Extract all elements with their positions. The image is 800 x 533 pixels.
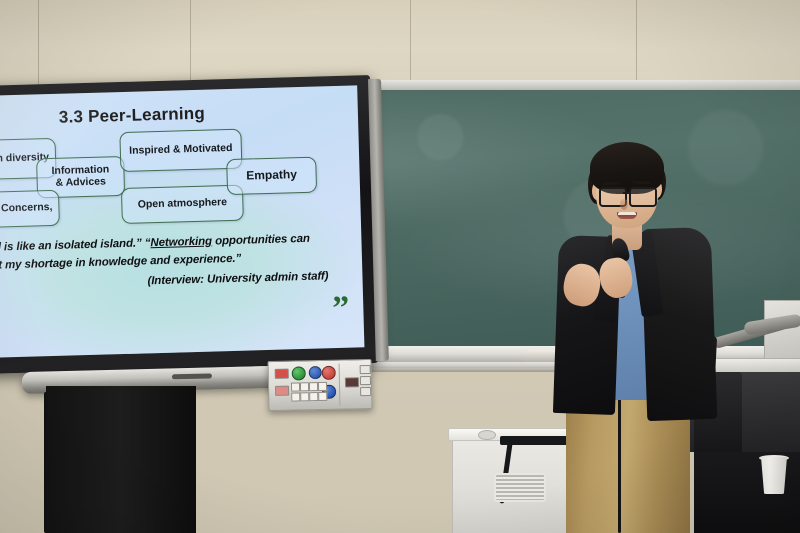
av-cabinet-vent	[494, 473, 546, 502]
pink-square-button[interactable]	[275, 386, 289, 396]
display-stand-column	[46, 386, 196, 533]
mini-switch[interactable]	[309, 382, 318, 391]
eyeglasses-lens-right	[629, 187, 657, 207]
mini-switch[interactable]	[291, 392, 300, 401]
quote-line-2: ent my shortage in knowledge and experie…	[0, 253, 241, 272]
red-round-button[interactable]	[322, 366, 336, 380]
control-panel-divider	[339, 364, 341, 406]
blue-round-button-upper[interactable]	[309, 366, 322, 379]
mini-switch[interactable]	[318, 382, 327, 391]
panel-button-right-bottom[interactable]	[360, 387, 371, 396]
diagram-box-challenges-concerns: nges & Concerns,	[0, 190, 60, 230]
quote-line-1-post: opportunities can	[212, 233, 310, 248]
panel-button-right-top[interactable]	[360, 365, 371, 374]
quote-line-1: ce] is like an isolated island.” “Networ…	[0, 233, 310, 254]
display-screen[interactable]: 3.3 Peer-Learning ned in diversity Infor…	[0, 85, 364, 357]
presenter-nose	[620, 199, 628, 210]
av-cabinet-knob[interactable]	[478, 430, 496, 440]
green-round-button[interactable]	[292, 366, 306, 380]
mini-switch[interactable]	[300, 392, 309, 401]
flat-panel-display[interactable]: 3.3 Peer-Learning ned in diversity Infor…	[0, 75, 378, 374]
quote-line-1-pre: ce] is like an isolated island.” “	[0, 237, 151, 254]
eyeglasses-bridge	[623, 192, 631, 194]
closing-quote-mark: ”	[332, 292, 350, 326]
presenter-mouth	[617, 212, 637, 219]
red-square-button[interactable]	[275, 369, 289, 379]
quote-keyword-networking: Networking	[150, 236, 212, 250]
lecture-room-photo: 3.3 Peer-Learning ned in diversity Infor…	[0, 0, 800, 533]
diagram-box-open-atmosphere: Open atmosphere	[121, 185, 244, 224]
quote-attribution: (Interview: University admin staff)	[147, 270, 328, 287]
av-control-panel[interactable]	[267, 359, 372, 411]
mini-switch[interactable]	[291, 382, 300, 391]
display-stand-slot	[172, 373, 212, 379]
mini-switch[interactable]	[309, 392, 318, 401]
mini-switch[interactable]	[318, 392, 327, 401]
display-readout	[345, 377, 359, 387]
paper-cup	[761, 457, 787, 494]
panel-button-right-mid[interactable]	[360, 376, 371, 385]
slide-title: 3.3 Peer-Learning	[59, 104, 206, 128]
diagram-box-empathy: Empathy	[226, 157, 317, 195]
diagram-box-inspired-motivated: Inspired & Motivated	[119, 129, 242, 172]
presenter-teeth	[618, 212, 636, 215]
mini-switch[interactable]	[300, 382, 309, 391]
